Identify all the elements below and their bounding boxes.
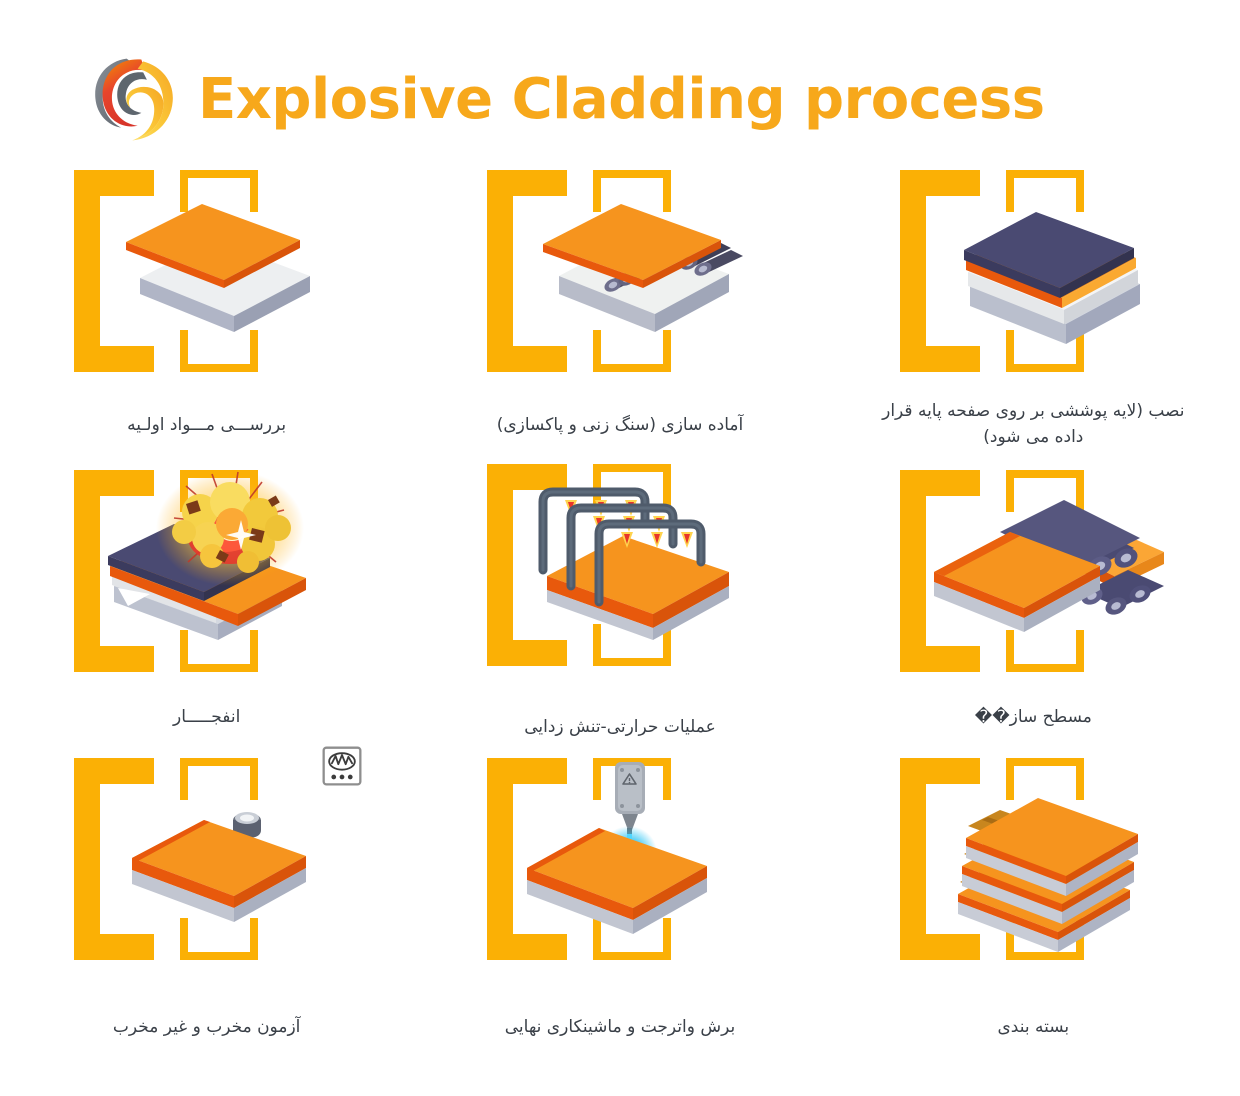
- step-3-caption: نصب (لایه پوششی بر روی صفحه پایه قرار دا…: [868, 398, 1198, 451]
- step-3-frame: [888, 166, 1178, 376]
- step-5-caption: عملیات حرارتی-تنش زدایی: [455, 714, 785, 740]
- step-9-frame: [888, 754, 1178, 942]
- process-step-6: مسطح ساز��: [827, 458, 1240, 740]
- step-6-frame: [888, 466, 1178, 676]
- step-6-caption: مسطح ساز��: [868, 704, 1198, 730]
- step-7-frame: [62, 754, 352, 942]
- process-step-5: عملیات حرارتی-تنش زدایی: [413, 458, 826, 740]
- cladding-layer-placement-illustration: [888, 166, 1178, 376]
- waterjet-cutting-illustration: [475, 754, 765, 964]
- step-5-frame: [475, 460, 765, 660]
- step-1-frame: [62, 166, 352, 376]
- process-step-3: نصب (لایه پوششی بر روی صفحه پایه قرار دا…: [827, 158, 1240, 458]
- destructive-nondestructive-testing-illustration: [62, 754, 352, 964]
- step-8-caption: برش واترجت و ماشینکاری نهایی: [455, 1014, 785, 1040]
- step-2-caption: آماده سازی (سنگ زنی و پاکسازی): [455, 412, 785, 438]
- process-step-4: انفجـــــار: [0, 458, 413, 740]
- process-step-8: برش واترجت و ماشینکاری نهایی: [413, 740, 826, 1040]
- flattening-illustration: [888, 466, 1178, 676]
- raw-material-inspection-illustration: [62, 166, 352, 376]
- process-step-2: آماده سازی (سنگ زنی و پاکسازی): [413, 158, 826, 458]
- step-9-caption: بسته بندی: [868, 1014, 1198, 1040]
- process-step-9: بسته بندی: [827, 740, 1240, 1040]
- step-4-frame: [62, 466, 352, 676]
- spiral-swirl-logo: [88, 52, 180, 148]
- page-title: Explosive Cladding process: [198, 72, 1045, 128]
- process-step-7: آزمون مخرب و غیر مخرب: [0, 740, 413, 1040]
- process-step-1: بررســـی مـــواد اولـیه: [0, 158, 413, 458]
- step-1-caption: بررســـی مـــواد اولـیه: [42, 412, 372, 438]
- explosion-illustration: [62, 466, 352, 676]
- poster-header: Explosive Cladding process: [88, 52, 1045, 148]
- poster-root: Explosive Cladding process: [0, 0, 1240, 1096]
- step-8-frame: [475, 754, 765, 942]
- step-7-caption: آزمون مخرب و غیر مخرب: [42, 1014, 372, 1040]
- surface-preparation-illustration: [475, 166, 765, 376]
- process-steps-grid: بررســـی مـــواد اولـیه: [0, 158, 1240, 1040]
- heat-treatment-illustration: [475, 460, 765, 670]
- packaging-illustration: [888, 754, 1178, 964]
- step-2-frame: [475, 166, 765, 376]
- waterjet-cutting-head: [615, 762, 645, 836]
- step-4-caption: انفجـــــار: [42, 704, 372, 730]
